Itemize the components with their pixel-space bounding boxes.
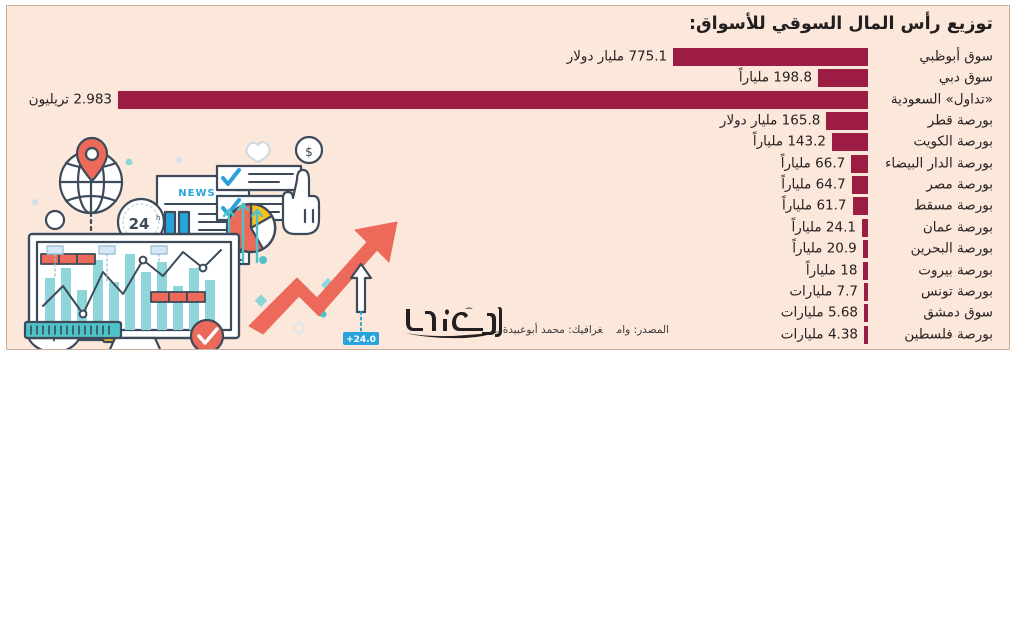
bar: [863, 262, 868, 280]
bar-category-label: بورصة تونس: [875, 285, 993, 299]
bar-value-label: 165.8 مليار دولار: [720, 114, 820, 128]
bar-value-label: 198.8 ملياراً: [739, 72, 812, 86]
bar: [118, 91, 868, 109]
al-bayan-logo: [399, 301, 507, 343]
bar-value-label: 20.9 ملياراً: [792, 242, 857, 256]
bar-category-label: بورصة فلسطين: [875, 328, 993, 342]
bar-category-label: بورصة قطر: [875, 114, 993, 128]
bar-category-label: بورصة مسقط: [875, 200, 993, 214]
bar-value-label: 5.68 مليارات: [781, 306, 858, 320]
svg-text:h: h: [156, 214, 160, 222]
bar: [851, 155, 868, 173]
bar-value-label: 61.7 ملياراً: [782, 200, 847, 214]
bar-value-label: 18 ملياراً: [806, 264, 858, 278]
bar-category-label: بورصة البحرين: [875, 242, 993, 256]
bar: [818, 69, 868, 87]
bar-category-label: سوق دبي: [875, 72, 993, 86]
credit-line: المصدر: وامغرافيك: محمد أبوعبيدة: [489, 324, 669, 336]
bar-category-label: بورصة الكويت: [875, 136, 993, 150]
svg-text:NEWS: NEWS: [178, 188, 215, 199]
bar-value-label: 4.38 مليارات: [781, 328, 858, 342]
chart-row: «تداول» السعودية2.983 تريليون: [6, 91, 993, 109]
bar-value-label: 775.1 مليار دولار: [567, 50, 667, 64]
bar: [862, 219, 868, 237]
bar: [864, 283, 868, 301]
bar-category-label: بورصة الدار البيضاء: [875, 157, 993, 171]
bar-value-label: 7.7 مليارات: [789, 285, 858, 299]
bar-value-label: 24.1 ملياراً: [791, 221, 856, 235]
chart-row: سوق دبي198.8 ملياراً: [6, 69, 993, 87]
bar-value-label: 64.7 ملياراً: [781, 178, 846, 192]
bar-track: 775.1 مليار دولار: [6, 48, 868, 66]
svg-text:24: 24: [129, 215, 150, 233]
bar: [853, 197, 869, 215]
bar-track: 2.983 تريليون: [6, 91, 868, 109]
bar-category-label: سوق أبوظبي: [875, 50, 993, 64]
bar-value-label: 66.7 ملياراً: [781, 157, 846, 171]
bar-category-label: سوق دمشق: [875, 306, 993, 320]
business-analytics-illustration: $: [11, 110, 401, 350]
bar-category-label: بورصة عمان: [875, 221, 993, 235]
bar-track: 198.8 ملياراً: [6, 69, 868, 87]
bar-value-label: 143.2 ملياراً: [753, 136, 826, 150]
svg-text:$: $: [305, 145, 313, 159]
svg-text:+24.0: +24.0: [346, 335, 376, 345]
bar-category-label: بورصة بيروت: [875, 264, 993, 278]
bar: [863, 240, 868, 258]
bar: [864, 326, 868, 344]
bar: [852, 176, 868, 194]
bar: [673, 48, 868, 66]
chart-row: سوق أبوظبي775.1 مليار دولار: [6, 48, 993, 66]
bar: [826, 112, 868, 130]
bar-value-label: 2.983 تريليون: [29, 93, 112, 107]
bar: [864, 304, 868, 322]
bar: [832, 133, 868, 151]
bar-category-label: «تداول» السعودية: [875, 93, 993, 107]
page-title: توزيع رأس المال السوقي للأسواق:: [689, 14, 993, 34]
credit-graphic: غرافيك: محمد أبوعبيدة: [503, 324, 603, 336]
infographic-panel: توزيع رأس المال السوقي للأسواق: سوق أبوظ…: [6, 5, 1010, 350]
bar-category-label: بورصة مصر: [875, 178, 993, 192]
credit-source: المصدر: وام: [617, 324, 669, 336]
